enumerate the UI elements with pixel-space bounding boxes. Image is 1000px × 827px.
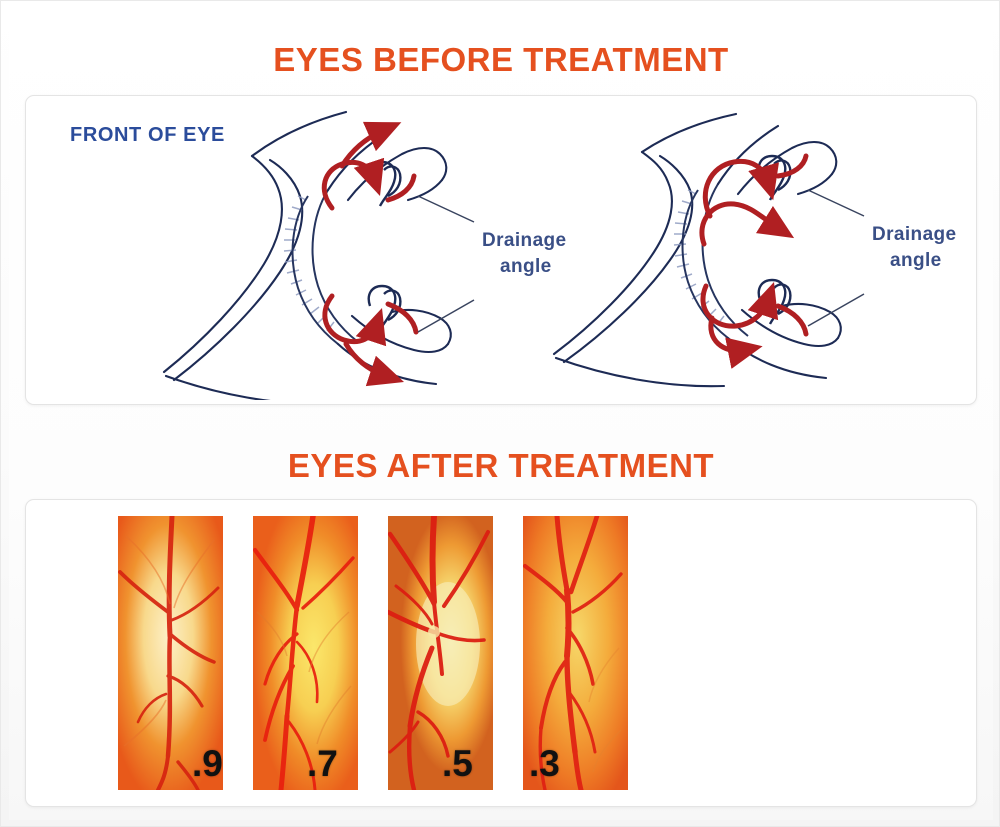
eye-diagram-closed-angle: Drainage angle bbox=[546, 104, 966, 400]
section-title-before: EYES BEFORE TREATMENT bbox=[9, 41, 993, 79]
eye-diagram-open-angle: Drainage angle bbox=[156, 104, 576, 400]
drainage-angle-label-line2: angle bbox=[890, 250, 942, 271]
page-frame: EYES BEFORE TREATMENT FRONT OF EYE bbox=[0, 0, 1000, 827]
cup-disc-ratio-4: .3 bbox=[529, 745, 560, 782]
fundus-photo-3: .5 bbox=[388, 516, 493, 790]
cup-disc-ratio-1: .9 bbox=[192, 745, 223, 782]
page-inner: EYES BEFORE TREATMENT FRONT OF EYE bbox=[9, 7, 993, 820]
cup-disc-ratio-3: .5 bbox=[442, 745, 473, 782]
fundus-photo-row: .9 bbox=[26, 500, 978, 808]
drainage-angle-label-line1: Drainage bbox=[872, 224, 957, 245]
fundus-photo-2: .7 bbox=[253, 516, 358, 790]
drainage-angle-label-line2: angle bbox=[500, 256, 552, 277]
fundus-photo-1: .9 bbox=[118, 516, 223, 790]
cup-disc-ratio-2: .7 bbox=[307, 745, 338, 782]
section-title-after: EYES AFTER TREATMENT bbox=[9, 447, 993, 485]
fundus-photo-4: .3 bbox=[523, 516, 628, 790]
before-treatment-card: FRONT OF EYE bbox=[25, 95, 977, 405]
after-treatment-card: .9 bbox=[25, 499, 977, 807]
